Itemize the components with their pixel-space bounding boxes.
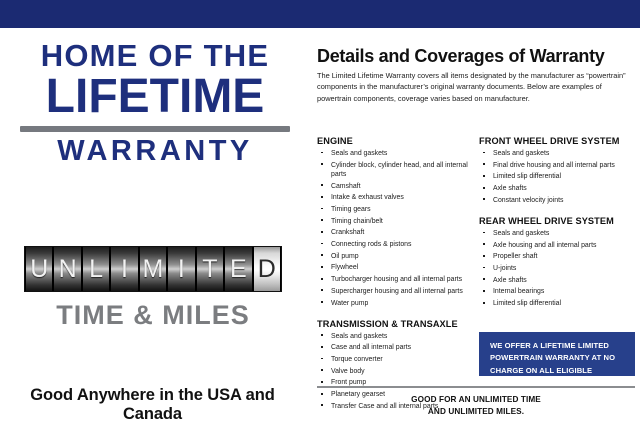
headline-line-3: WARRANTY: [16, 137, 294, 166]
list-item: Timing chain/belt: [317, 217, 475, 226]
headline-block: HOME OF THE LIFETIME WARRANTY: [16, 40, 294, 166]
top-navy-band: [0, 0, 640, 28]
list-item: Axle shafts: [479, 276, 639, 285]
odometer-graphic: UNLIMITED: [24, 246, 282, 292]
coverage-section-rear-wheel-drive-system: REAR WHEEL DRIVE SYSTEMSeals and gaskets…: [479, 216, 639, 308]
section-heading: ENGINE: [317, 136, 475, 146]
time-and-miles-label: TIME & MILES: [24, 300, 282, 331]
headline-line-1: HOME OF THE: [16, 40, 294, 71]
odometer-cell-n-1: N: [54, 247, 80, 291]
list-item: Water pump: [317, 299, 475, 308]
list-item: Limited slip differential: [479, 299, 639, 308]
bottom-divider-rule: [317, 386, 635, 388]
intro-paragraph: The Limited Lifetime Warranty covers all…: [317, 70, 635, 104]
section-item-list: Seals and gasketsAxle housing and all in…: [479, 229, 639, 308]
odometer-cell-d-8: D: [254, 247, 280, 291]
list-item: Cylinder block, cylinder head, and all i…: [317, 161, 475, 179]
list-item: Seals and gaskets: [317, 332, 475, 341]
list-item: Oil pump: [317, 252, 475, 261]
list-item: U-joints: [479, 264, 639, 273]
odometer-cell-u-0: U: [26, 247, 52, 291]
odometer-cell-i-3: I: [111, 247, 137, 291]
offer-callout-box: WE OFFER A LIFETIME LIMITED POWERTRAIN W…: [479, 332, 635, 376]
odometer-cell-t-6: T: [197, 247, 223, 291]
page-title: Details and Coverages of Warranty: [317, 46, 639, 67]
headline-line-2: LIFETIME: [16, 73, 294, 121]
list-item: Axle shafts: [479, 184, 639, 193]
list-item: Camshaft: [317, 182, 475, 191]
list-item: Case and all internal parts: [317, 343, 475, 352]
odometer-cell-i-5: I: [168, 247, 194, 291]
list-item: Internal bearings: [479, 287, 639, 296]
list-item: Constant velocity joints: [479, 196, 639, 205]
right-panel: Details and Coverages of Warranty The Li…: [313, 28, 640, 426]
coverage-column-right: FRONT WHEEL DRIVE SYSTEMSeals and gasket…: [479, 136, 639, 319]
list-item: Seals and gaskets: [317, 149, 475, 158]
list-item: Axle housing and all internal parts: [479, 241, 639, 250]
coverage-column-left: ENGINESeals and gasketsCylinder block, c…: [317, 136, 475, 422]
headline-divider-rule: [20, 126, 290, 132]
list-item: Connecting rods & pistons: [317, 240, 475, 249]
coverage-section-engine: ENGINESeals and gasketsCylinder block, c…: [317, 136, 475, 308]
odometer-cell-l-2: L: [83, 247, 109, 291]
left-panel: HOME OF THE LIFETIME WARRANTY UNLIMITED …: [0, 28, 305, 426]
list-item: Torque converter: [317, 355, 475, 364]
list-item: Turbocharger housing and all internal pa…: [317, 275, 475, 284]
section-heading: FRONT WHEEL DRIVE SYSTEM: [479, 136, 639, 146]
list-item: Crankshaft: [317, 228, 475, 237]
bottom-note-line-2: AND UNLIMITED MILES.: [317, 406, 635, 418]
section-heading: REAR WHEEL DRIVE SYSTEM: [479, 216, 639, 226]
section-item-list: Seals and gasketsCylinder block, cylinde…: [317, 149, 475, 308]
section-heading: TRANSMISSION & TRANSAXLE: [317, 319, 475, 329]
bottom-note-line-1: GOOD FOR AN UNLIMITED TIME: [317, 394, 635, 406]
list-item: Limited slip differential: [479, 172, 639, 181]
list-item: Intake & exhaust valves: [317, 193, 475, 202]
list-item: Supercharger housing and all internal pa…: [317, 287, 475, 296]
good-anywhere-tagline: Good Anywhere in the USA and Canada: [0, 386, 305, 424]
warranty-flyer: HOME OF THE LIFETIME WARRANTY UNLIMITED …: [0, 0, 640, 426]
coverage-section-front-wheel-drive-system: FRONT WHEEL DRIVE SYSTEMSeals and gasket…: [479, 136, 639, 205]
list-item: Seals and gaskets: [479, 149, 639, 158]
odometer-cell-e-7: E: [225, 247, 251, 291]
list-item: Final drive housing and all internal par…: [479, 161, 639, 170]
list-item: Seals and gaskets: [479, 229, 639, 238]
odometer-cell-m-4: M: [140, 247, 166, 291]
list-item: Propeller shaft: [479, 252, 639, 261]
section-item-list: Seals and gasketsFinal drive housing and…: [479, 149, 639, 205]
list-item: Flywheel: [317, 263, 475, 272]
list-item: Valve body: [317, 367, 475, 376]
list-item: Timing gears: [317, 205, 475, 214]
bottom-note: GOOD FOR AN UNLIMITED TIME AND UNLIMITED…: [317, 394, 635, 419]
